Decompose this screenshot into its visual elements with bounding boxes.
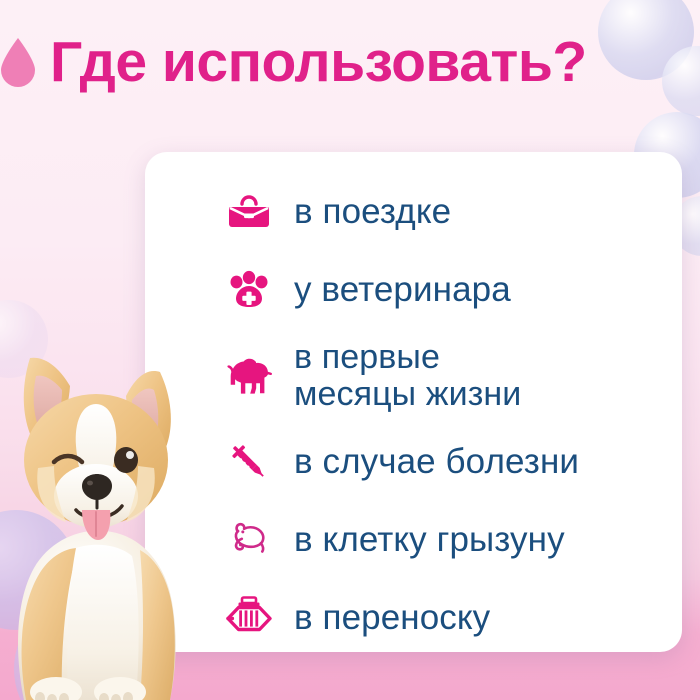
paw-cross-icon [218, 261, 280, 319]
list-item-label: в клетку грызуну [280, 521, 565, 559]
pet-carrier-icon [218, 589, 280, 647]
puppy-icon [218, 347, 280, 405]
list-item[interactable]: в клетку грызуну [218, 504, 678, 576]
promo-banner: Где использовать? в поездке [0, 0, 700, 700]
list-item-label: в случае болезни [280, 443, 579, 481]
list-item[interactable]: в случае болезни [218, 426, 678, 498]
list-item[interactable]: в переноску [218, 582, 678, 654]
list-item-label: в поездке [280, 193, 451, 231]
usage-list: в поездке у ветеринара [218, 176, 678, 660]
page-title: Где использовать? [50, 26, 587, 98]
mouse-icon [218, 511, 280, 569]
list-item-label: в первые месяцы жизни [280, 339, 521, 414]
travel-bag-icon [218, 183, 280, 241]
water-drop-icon [0, 36, 39, 88]
syringe-icon [218, 433, 280, 491]
list-item[interactable]: у ветеринара [218, 254, 678, 326]
list-item-label: в переноску [280, 599, 490, 637]
list-item[interactable]: в поездке [218, 176, 678, 248]
list-item[interactable]: в первые месяцы жизни [218, 332, 678, 420]
bubble-decoration [0, 300, 48, 378]
header: Где использовать? [0, 28, 700, 100]
list-item-label: у ветеринара [280, 271, 511, 309]
